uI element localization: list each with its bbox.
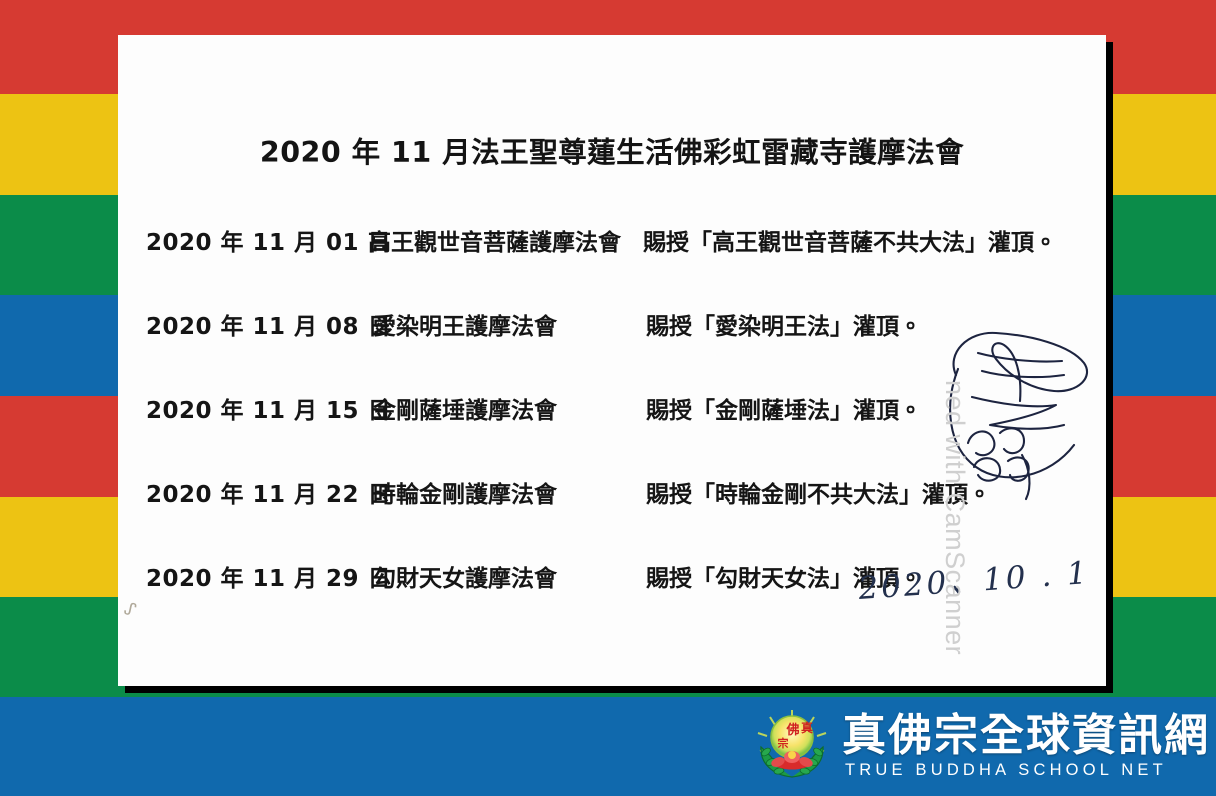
row-date: 2020 年 11 月 08 日	[146, 307, 391, 341]
svg-text:宗: 宗	[778, 736, 789, 750]
schedule-row: 2020 年 11 月 08 日 愛染明王護摩法會 賜授「愛染明王法」灌頂。	[118, 307, 1106, 391]
row-date: 2020 年 11 月 22 日	[146, 475, 391, 509]
row-date: 2020 年 11 月 01 日	[146, 223, 391, 257]
svg-text:真: 真	[801, 720, 813, 735]
true-buddha-emblem-icon: 佛 真 宗	[752, 707, 832, 787]
document-title: 2020 年 11 月法王聖尊蓮生活佛彩虹雷藏寺護摩法會	[118, 130, 1106, 171]
row-empowerment: 賜授「高王觀世音菩薩不共大法」灌頂。	[643, 223, 1057, 257]
row-event: 時輪金剛護摩法會	[373, 475, 557, 509]
logo-english-name: TRUE BUDDHA SCHOOL NET	[845, 760, 1210, 781]
row-date: 2020 年 11 月 15 日	[146, 391, 391, 425]
footer-logo: 佛 真 宗	[752, 702, 1210, 792]
row-date: 2020 年 11 月 29 日	[146, 559, 391, 593]
svg-text:佛: 佛	[785, 722, 799, 738]
screenshot-root: 2020 年 11 月法王聖尊蓮生活佛彩虹雷藏寺護摩法會 2020 年 11 月…	[0, 0, 1216, 796]
row-event: 愛染明王護摩法會	[373, 307, 557, 341]
row-event: 勾財天女護摩法會	[373, 559, 557, 593]
logo-text-block: 真佛宗全球資訊網 TRUE BUDDHA SCHOOL NET	[842, 713, 1210, 781]
row-event: 金剛薩埵護摩法會	[373, 391, 557, 425]
document-card: 2020 年 11 月法王聖尊蓮生活佛彩虹雷藏寺護摩法會 2020 年 11 月…	[118, 35, 1106, 686]
row-event: 高王觀世音菩薩護摩法會	[368, 223, 621, 257]
camscanner-watermark: ned with CamScanner	[939, 380, 970, 686]
logo-chinese-name: 真佛宗全球資訊網	[842, 713, 1210, 759]
row-empowerment: 賜授「愛染明王法」灌頂。	[646, 307, 922, 341]
schedule-row: 2020 年 11 月 01 日 高王觀世音菩薩護摩法會 賜授「高王觀世音菩薩不…	[118, 223, 1106, 307]
row-empowerment: 賜授「金剛薩埵法」灌頂。	[646, 391, 922, 425]
